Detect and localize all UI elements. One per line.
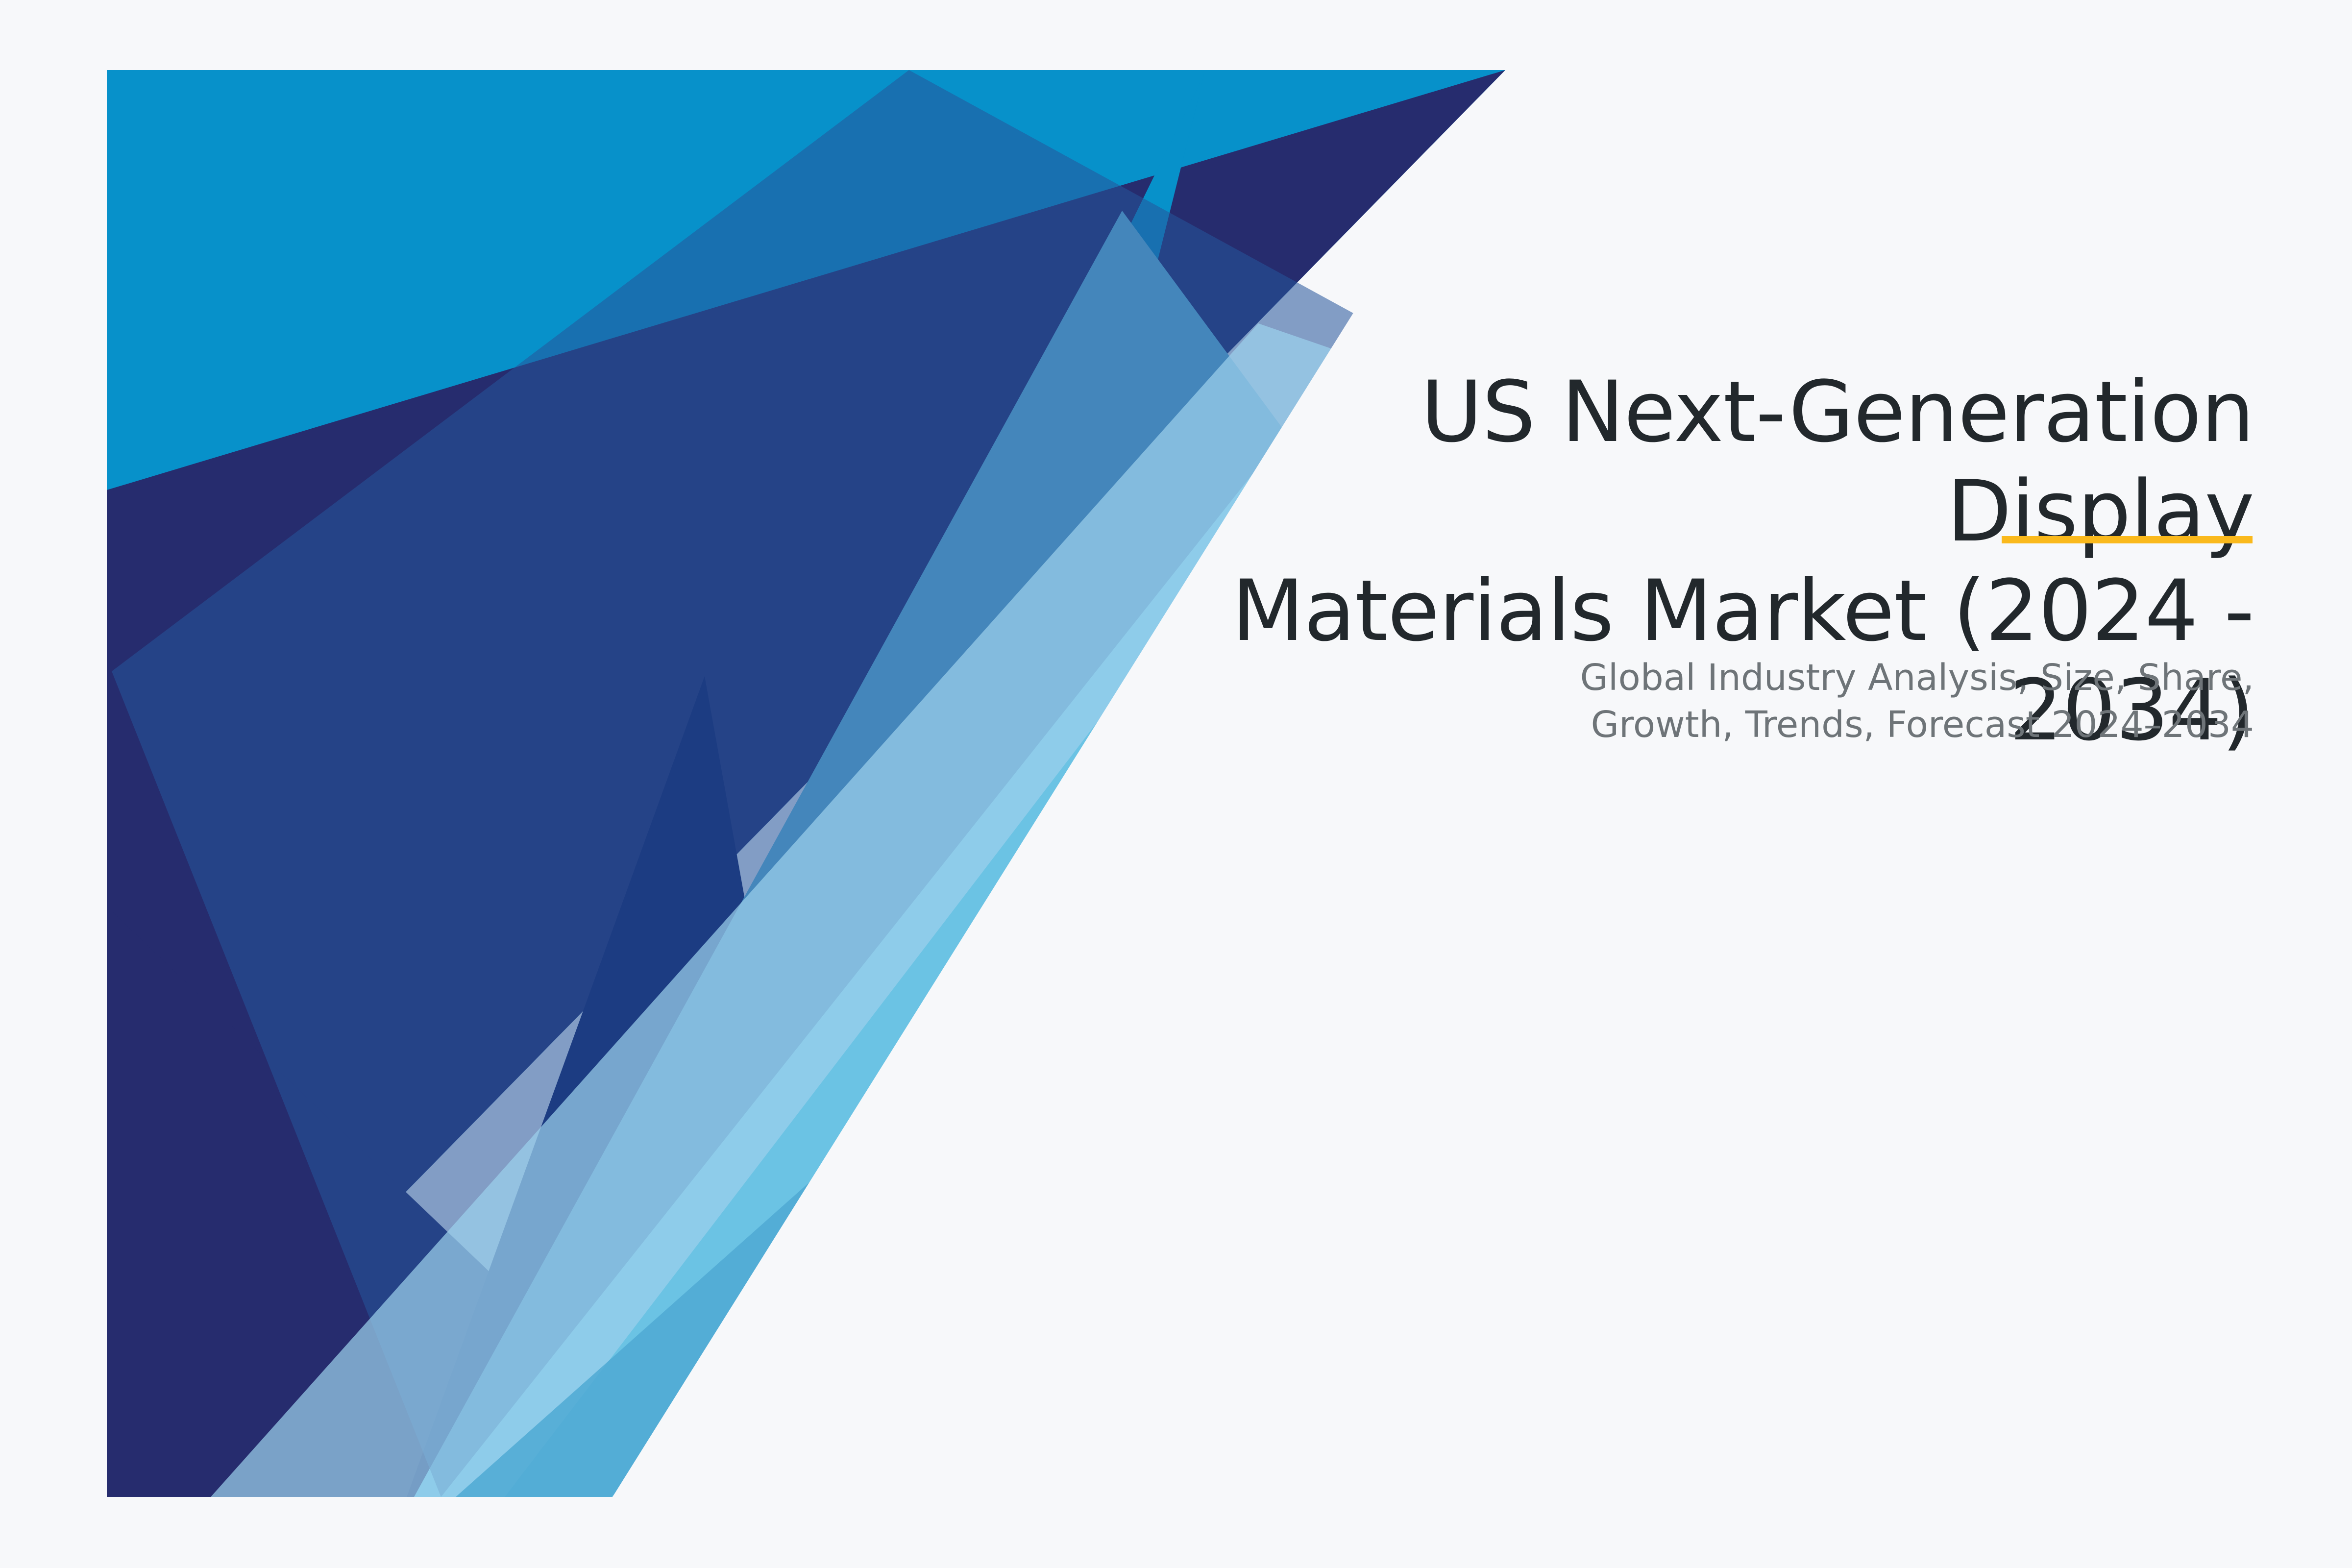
underline-accent-bar	[2002, 536, 2253, 543]
shape-background-mask-left	[0, 0, 107, 1568]
shape-background-mask-bottom	[0, 1497, 2352, 1568]
cover-page: US Next-Generation Display Materials Mar…	[0, 0, 2352, 1568]
shape-background-mask-top	[0, 0, 2352, 70]
abstract-polygon-cover-graphic	[0, 0, 2352, 1568]
page-subtitle: Global Industry Analysis, Size, Share, G…	[1421, 654, 2254, 748]
